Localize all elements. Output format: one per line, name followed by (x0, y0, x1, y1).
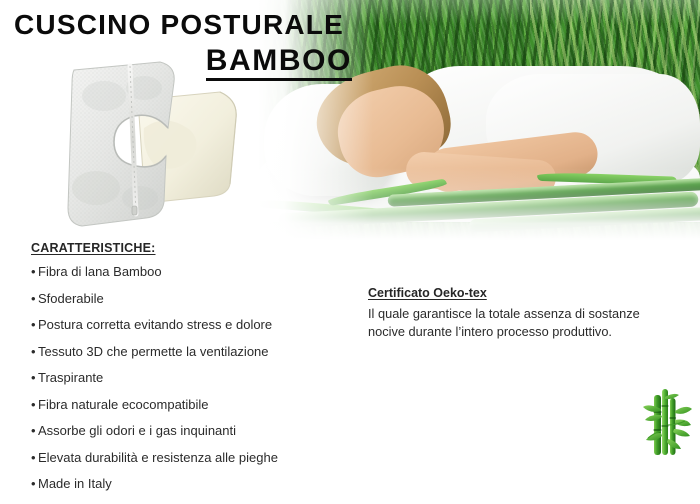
feature-label: Elevata durabilità e resistenza alle pie… (38, 450, 278, 465)
bullet-icon: • (31, 424, 38, 439)
feature-item: •Tessuto 3D che permette la ventilazione (31, 345, 351, 360)
feature-label: Sfoderabile (38, 291, 104, 306)
features-heading: CARATTERISTICHE: (31, 241, 351, 255)
certificate-heading: Certificato Oeko-tex (368, 286, 680, 300)
bullet-icon: • (31, 345, 38, 360)
bullet-icon: • (31, 371, 38, 386)
bullet-icon: • (31, 318, 38, 333)
feature-item: •Assorbe gli odori e i gas inquinanti (31, 424, 351, 439)
bamboo-stalks-icon (641, 381, 693, 457)
feature-label: Postura corretta evitando stress e dolor… (38, 317, 272, 332)
feature-item: •Postura corretta evitando stress e dolo… (31, 318, 351, 333)
page-title: CUSCINO POSTURALE (0, 10, 360, 39)
feature-label: Traspirante (38, 370, 103, 385)
bamboo-icon-graphic (641, 381, 693, 457)
features-section: CARATTERISTICHE: •Fibra di lana Bamboo •… (31, 241, 351, 504)
feature-item: •Fibra di lana Bamboo (31, 265, 351, 280)
feature-label: Assorbe gli odori e i gas inquinanti (38, 423, 236, 438)
advertisement-page: CUSCINO POSTURALE BAMBOO (0, 0, 700, 490)
feature-label: Fibra di lana Bamboo (38, 264, 162, 279)
feature-label: Tessuto 3D che permette la ventilazione (38, 344, 269, 359)
posture-pillow-illustration (52, 56, 267, 232)
certificate-line-1: Il quale garantisce la totale assenza di… (368, 305, 680, 323)
product-image (52, 56, 267, 232)
feature-label: Made in Italy (38, 476, 112, 491)
feature-item: •Sfoderabile (31, 292, 351, 307)
title-block: CUSCINO POSTURALE BAMBOO (0, 10, 360, 81)
bullet-icon: • (31, 398, 38, 413)
feature-item: •Elevata durabilità e resistenza alle pi… (31, 451, 351, 466)
feature-item: •Fibra naturale ecocompatibile (31, 398, 351, 413)
feature-label: Fibra naturale ecocompatibile (38, 397, 209, 412)
certificate-line-2: nocive durante l’intero processo produtt… (368, 323, 680, 341)
page-subtitle-wrap: BAMBOO (0, 45, 360, 81)
certificate-section: Certificato Oeko-tex Il quale garantisce… (368, 286, 680, 341)
feature-item: •Traspirante (31, 371, 351, 386)
bullet-icon: • (31, 451, 38, 466)
bullet-icon: • (31, 265, 38, 280)
bullet-icon: • (31, 292, 38, 307)
page-subtitle: BAMBOO (206, 45, 352, 81)
